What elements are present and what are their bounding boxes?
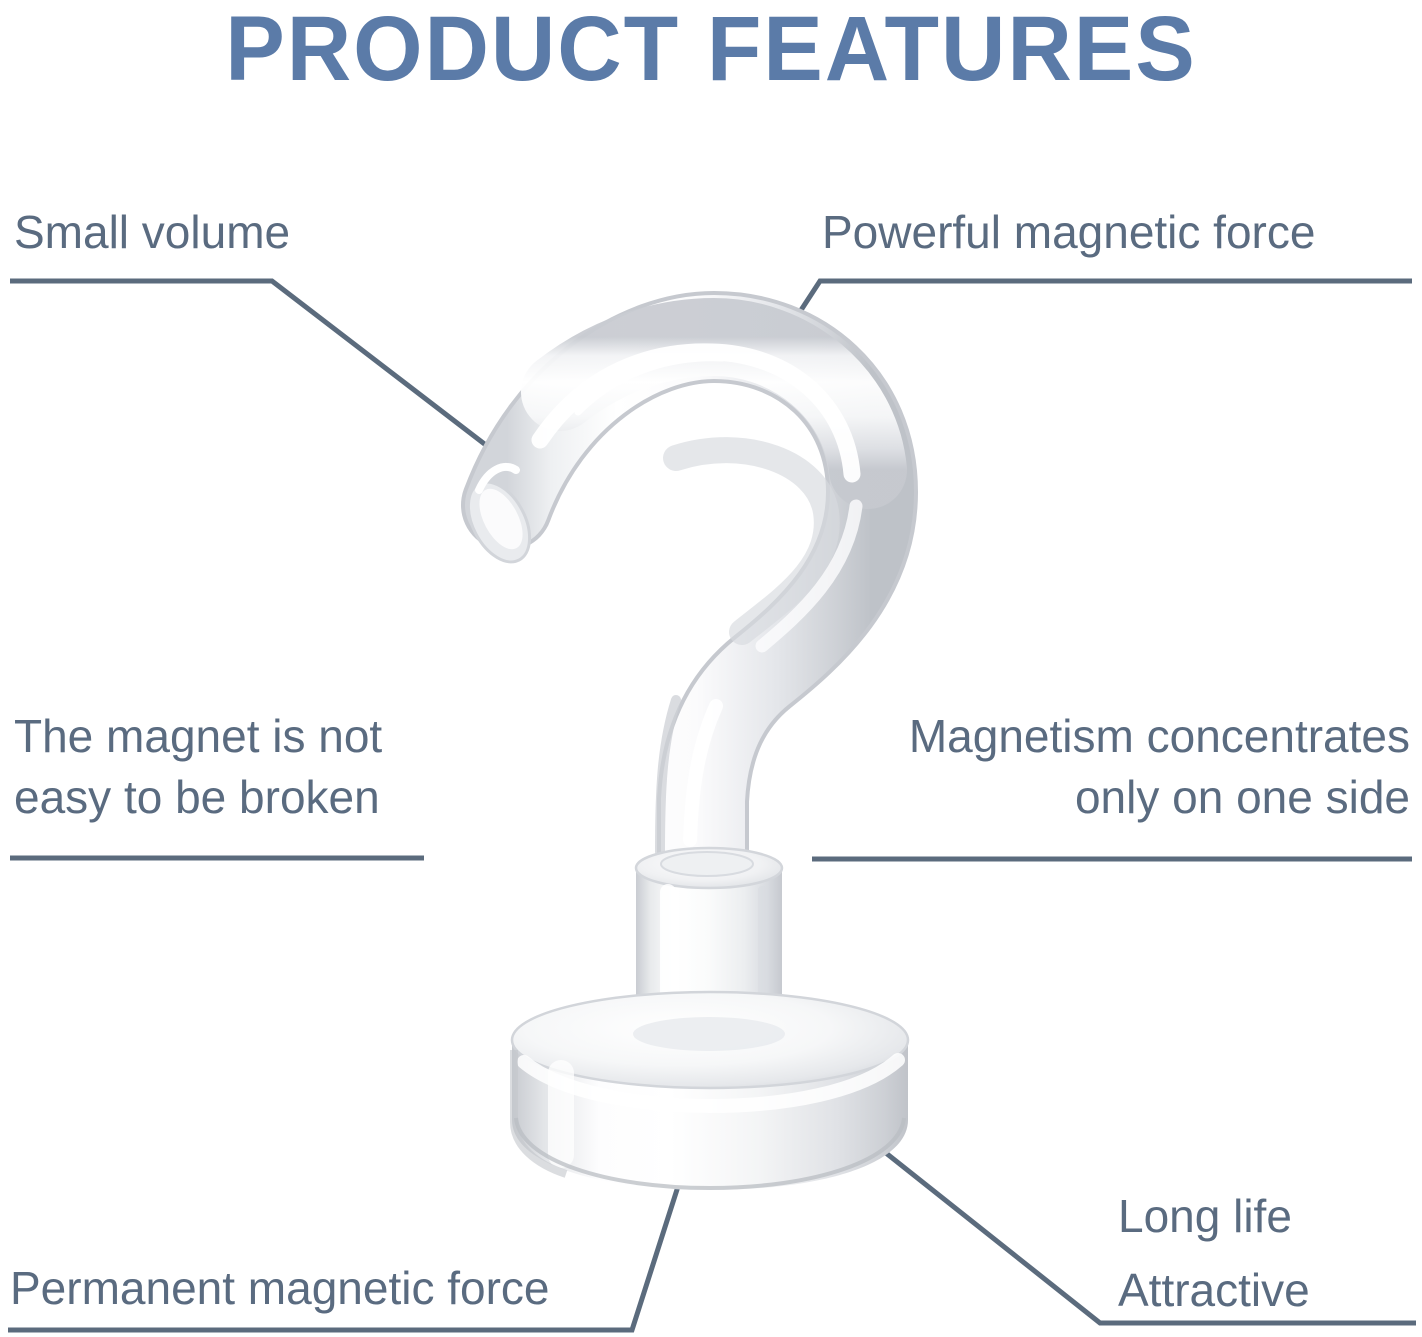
feature-label-permanent-magnetic-force: Permanent magnetic force (10, 1258, 550, 1318)
feature-label-small-volume: Small volume (14, 202, 290, 262)
leader-line-small-volume (10, 281, 508, 462)
feature-label-attractive: Attractive (1118, 1260, 1408, 1320)
infographic-canvas: PRODUCT FEATURES (0, 0, 1422, 1337)
feature-label-magnetism-one-side: Magnetism concentrates only on one side (812, 706, 1410, 828)
feature-label-powerful-magnetic-force: Powerful magnetic force (822, 202, 1408, 262)
magnet-base (512, 992, 908, 1190)
feature-label-long-life: Long life (1118, 1186, 1408, 1246)
feature-label-magnet-not-easy-broken: The magnet is not easy to be broken (14, 706, 434, 828)
product-illustration (0, 0, 1422, 1337)
